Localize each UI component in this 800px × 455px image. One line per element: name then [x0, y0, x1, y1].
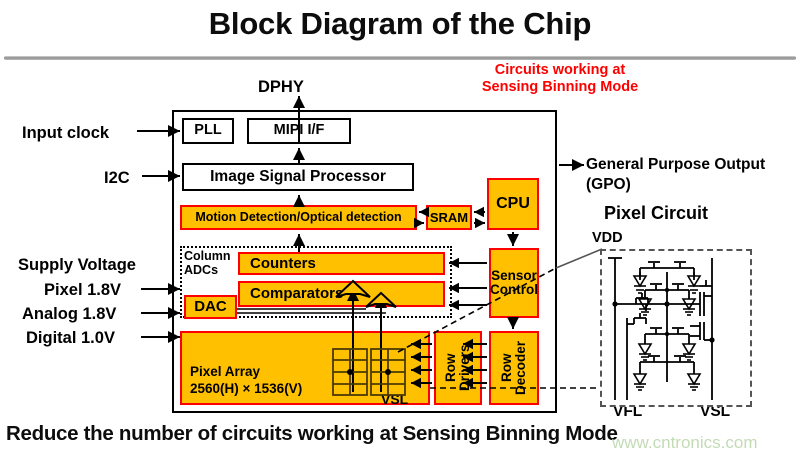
- block-sram[interactable]: SRAM: [426, 205, 472, 230]
- pixel-circuit-box: [600, 249, 752, 407]
- label-supply-analog: Analog 1.8V: [22, 305, 116, 324]
- slide-canvas: Block Diagram of the Chip Circuits worki…: [0, 0, 800, 455]
- block-dac[interactable]: DAC: [184, 295, 237, 319]
- label-supply-voltage: Supply Voltage: [18, 256, 136, 275]
- page-title: Block Diagram of the Chip: [0, 6, 800, 42]
- block-motion-detection[interactable]: Motion Detection/Optical detection: [180, 205, 417, 230]
- title-divider: [4, 56, 796, 60]
- column-adc-label-line-2: ADCs: [184, 264, 236, 278]
- annotation-active-circuits: Circuits working at Sensing Binning Mode: [430, 62, 690, 96]
- label-vdd: VDD: [592, 230, 623, 246]
- block-mipi-if[interactable]: MIPI I/F: [247, 118, 351, 144]
- column-adc-label-line-1: Column: [184, 250, 236, 264]
- row-drivers-line-1: Row Drivers: [444, 333, 472, 403]
- label-gpo-line-1: General Purpose Output: [586, 156, 765, 174]
- label-dphy: DPHY: [258, 78, 304, 97]
- label-input-clock: Input clock: [22, 124, 109, 143]
- label-vsl-array: VSL: [381, 391, 408, 407]
- block-row-decoder[interactable]: Row Decoder: [489, 331, 539, 405]
- label-i2c: I2C: [104, 169, 130, 188]
- sensor-control-line-2: Control: [490, 283, 538, 297]
- sensor-control-line-1: Sensor: [491, 269, 537, 283]
- annotation-line-2: Sensing Binning Mode: [430, 79, 690, 96]
- block-counters[interactable]: Counters: [238, 252, 445, 275]
- row-decoder-line-1: Row Decoder: [500, 333, 528, 403]
- block-image-signal-processor[interactable]: Image Signal Processor: [182, 163, 414, 191]
- block-sensor-control[interactable]: Sensor Control: [489, 248, 539, 318]
- label-supply-digital: Digital 1.0V: [26, 329, 115, 348]
- annotation-line-1: Circuits working at: [430, 62, 690, 79]
- pixel-array-title: Pixel Array: [190, 363, 302, 380]
- block-row-drivers[interactable]: Row Drivers: [434, 331, 482, 405]
- watermark: www.cntronics.com: [612, 433, 757, 453]
- pixel-array-resolution: 2560(H) × 1536(V): [190, 380, 302, 397]
- label-gpo-line-2: (GPO): [586, 176, 631, 194]
- pixel-circuit-title: Pixel Circuit: [604, 203, 708, 224]
- column-adc-label: Column ADCs: [184, 250, 236, 277]
- label-supply-pixel: Pixel 1.8V: [44, 281, 121, 300]
- block-cpu[interactable]: CPU: [487, 178, 539, 230]
- block-comparators[interactable]: Comparators: [238, 281, 445, 307]
- block-pll[interactable]: PLL: [182, 118, 234, 144]
